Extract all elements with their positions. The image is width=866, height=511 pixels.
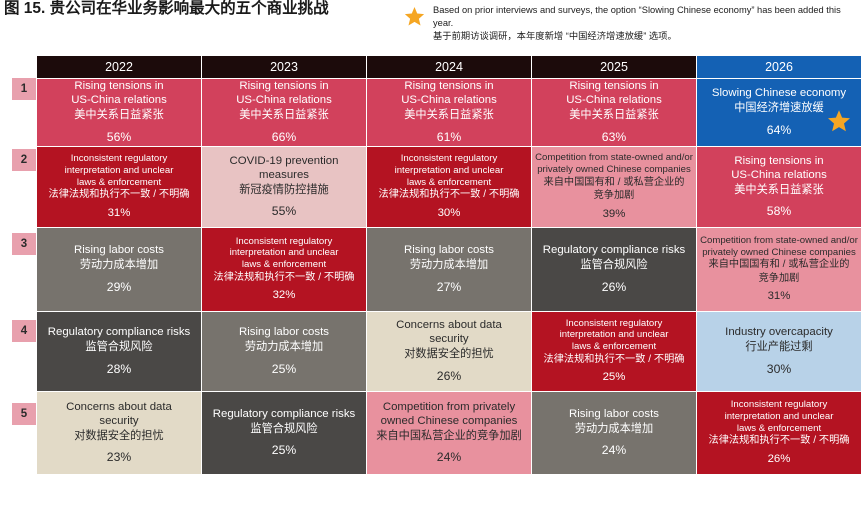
percentage-value: 25%: [202, 443, 366, 458]
challenge-label-en: COVID-19 prevention: [202, 155, 366, 169]
challenge-label-zh: 监管合规风险: [37, 341, 201, 355]
table-row: Rising tensions inUS-China relations美中关系…: [37, 79, 862, 147]
challenge-label-en: Rising tensions in: [37, 80, 201, 94]
matrix-cell[interactable]: Rising tensions inUS-China relations美中关系…: [202, 79, 367, 147]
challenge-label-zh: 竞争加剧: [532, 190, 696, 202]
percentage-value: 66%: [202, 130, 366, 145]
challenge-label-en: Concerns about data: [367, 319, 531, 333]
challenge-label-en: measures: [202, 169, 366, 183]
percentage-value: 26%: [697, 453, 861, 467]
challenge-label-en: interpretation and unclear: [697, 411, 861, 423]
percentage-value: 61%: [367, 130, 531, 145]
year-header-2024: 2024: [367, 56, 532, 79]
challenge-label-en: privately owned Chinese companies: [532, 164, 696, 176]
percentage-value: 26%: [532, 280, 696, 295]
table-row: Rising labor costs劳动力成本增加29%Inconsistent…: [37, 228, 862, 312]
challenge-label-en: privately owned Chinese companies: [697, 247, 861, 259]
challenge-label-en: interpretation and unclear: [532, 329, 696, 341]
challenge-label-en: Inconsistent regulatory: [532, 318, 696, 330]
challenge-label-en: US-China relations: [367, 94, 531, 108]
challenge-label-zh: 法律法规和执行不一致 / 不明确: [202, 272, 366, 284]
challenge-label-en: Industry overcapacity: [697, 326, 861, 340]
challenge-label-zh: 美中关系日益紧张: [367, 109, 531, 123]
matrix-cell[interactable]: Competition from state-owned and/orpriva…: [697, 228, 862, 312]
matrix-cell[interactable]: Rising labor costs劳动力成本增加25%: [202, 312, 367, 392]
matrix-cell[interactable]: Inconsistent regulatoryinterpretation an…: [532, 312, 697, 392]
challenge-label-en: Slowing Chinese economy: [697, 87, 861, 101]
matrix-cell[interactable]: Rising tensions inUS-China relations美中关系…: [367, 79, 532, 147]
challenge-label-en: Rising labor costs: [532, 408, 696, 422]
percentage-value: 55%: [202, 204, 366, 219]
challenge-label-en: Rising tensions in: [697, 155, 861, 169]
annotation-line-zh: 基于前期访谈调研，本年度新增 “中国经济增速放缓” 选项。: [433, 30, 862, 43]
challenge-label-en: security: [367, 333, 531, 347]
challenge-label-en: interpretation and unclear: [37, 165, 201, 177]
year-header-2023: 2023: [202, 56, 367, 79]
star-icon: [827, 109, 851, 139]
challenge-label-zh: 竞争加剧: [697, 273, 861, 285]
challenge-label-en: Competition from privately: [367, 401, 531, 415]
matrix-cell[interactable]: Competition from state-owned and/orpriva…: [532, 147, 697, 228]
challenge-label-en: Inconsistent regulatory: [202, 236, 366, 248]
challenge-label-zh: 来自中国私营企业的竞争加剧: [367, 430, 531, 444]
year-header-2022: 2022: [37, 56, 202, 79]
percentage-value: 58%: [697, 204, 861, 219]
year-header-2025: 2025: [532, 56, 697, 79]
matrix-cell[interactable]: Regulatory compliance risks监管合规风险28%: [37, 312, 202, 392]
year-header-row: 20222023202420252026: [37, 56, 862, 79]
challenge-label-zh: 美中关系日益紧张: [532, 109, 696, 123]
challenge-label-en: US-China relations: [532, 94, 696, 108]
matrix-cell[interactable]: Rising labor costs劳动力成本增加24%: [532, 392, 697, 475]
rank-badge-3: 3: [12, 233, 36, 255]
challenge-label-zh: 来自中国国有和 / 或私营企业的: [532, 177, 696, 189]
challenge-label-en: Regulatory compliance risks: [202, 408, 366, 422]
percentage-value: 29%: [37, 280, 201, 295]
challenge-label-en: Rising labor costs: [202, 326, 366, 340]
rank-badge-5: 5: [12, 403, 36, 425]
percentage-value: 39%: [532, 208, 696, 222]
annotation-note: Based on prior interviews and surveys, t…: [404, 4, 862, 44]
challenge-label-en: Inconsistent regulatory: [697, 399, 861, 411]
matrix-cell[interactable]: Rising tensions inUS-China relations美中关系…: [37, 79, 202, 147]
challenge-label-en: Competition from state-owned and/or: [697, 235, 861, 247]
challenge-label-zh: 美中关系日益紧张: [697, 184, 861, 198]
rank-badge-4: 4: [12, 320, 36, 342]
matrix-cell[interactable]: Concerns about datasecurity对数据安全的担忧26%: [367, 312, 532, 392]
percentage-value: 30%: [367, 207, 531, 221]
challenge-label-en: Regulatory compliance risks: [37, 326, 201, 340]
percentage-value: 30%: [697, 362, 861, 377]
challenge-label-zh: 劳动力成本增加: [532, 423, 696, 437]
challenge-label-en: laws & enforcement: [697, 423, 861, 435]
matrix-cell[interactable]: Rising labor costs劳动力成本增加27%: [367, 228, 532, 312]
challenge-label-en: security: [37, 415, 201, 429]
challenge-label-en: laws & enforcement: [367, 177, 531, 189]
challenge-label-zh: 劳动力成本增加: [367, 259, 531, 273]
percentage-value: 25%: [532, 371, 696, 385]
table-row: Concerns about datasecurity对数据安全的担忧23%Re…: [37, 392, 862, 475]
percentage-value: 27%: [367, 280, 531, 295]
challenges-matrix: 20222023202420252026 Rising tensions inU…: [36, 55, 862, 475]
matrix-cell[interactable]: Rising tensions inUS-China relations美中关系…: [697, 147, 862, 228]
percentage-value: 31%: [37, 207, 201, 221]
rank-badge-2: 2: [12, 149, 36, 171]
percentage-value: 24%: [532, 443, 696, 458]
challenge-label-en: Rising tensions in: [367, 80, 531, 94]
challenge-label-zh: 法律法规和执行不一致 / 不明确: [37, 189, 201, 201]
challenge-label-en: interpretation and unclear: [367, 165, 531, 177]
challenge-label-en: US-China relations: [697, 169, 861, 183]
percentage-value: 23%: [37, 450, 201, 465]
challenge-label-en: laws & enforcement: [202, 259, 366, 271]
challenge-label-zh: 法律法规和执行不一致 / 不明确: [367, 189, 531, 201]
matrix-body: Rising tensions inUS-China relations美中关系…: [37, 79, 862, 475]
challenge-label-zh: 来自中国国有和 / 或私营企业的: [697, 259, 861, 271]
matrix-cell[interactable]: Rising labor costs劳动力成本增加29%: [37, 228, 202, 312]
challenge-label-zh: 法律法规和执行不一致 / 不明确: [532, 354, 696, 366]
challenge-label-en: Rising tensions in: [202, 80, 366, 94]
challenge-label-zh: 监管合规风险: [202, 423, 366, 437]
challenge-label-en: US-China relations: [202, 94, 366, 108]
matrix-cell[interactable]: Inconsistent regulatoryinterpretation an…: [367, 147, 532, 228]
matrix-cell[interactable]: Rising tensions inUS-China relations美中关系…: [532, 79, 697, 147]
challenge-label-en: Rising labor costs: [367, 244, 531, 258]
challenge-label-en: laws & enforcement: [37, 177, 201, 189]
annotation-text: Based on prior interviews and surveys, t…: [433, 4, 862, 44]
challenge-label-en: laws & enforcement: [532, 341, 696, 353]
challenge-label-en: Concerns about data: [37, 401, 201, 415]
percentage-value: 56%: [37, 130, 201, 145]
challenge-label-en: US-China relations: [37, 94, 201, 108]
matrix-cell[interactable]: Inconsistent regulatoryinterpretation an…: [37, 147, 202, 228]
matrix-cell[interactable]: Competition from privatelyowned Chinese …: [367, 392, 532, 475]
annotation-line1: Based on prior interviews and surveys, t…: [433, 5, 674, 15]
challenge-label-en: Rising labor costs: [37, 244, 201, 258]
percentage-value: 25%: [202, 362, 366, 377]
challenge-label-zh: 行业产能过剩: [697, 341, 861, 355]
percentage-value: 32%: [202, 289, 366, 303]
challenge-label-zh: 对数据安全的担忧: [367, 348, 531, 362]
table-row: Inconsistent regulatoryinterpretation an…: [37, 147, 862, 228]
matrix-cell[interactable]: Inconsistent regulatoryinterpretation an…: [202, 228, 367, 312]
matrix-cell[interactable]: Concerns about datasecurity对数据安全的担忧23%: [37, 392, 202, 475]
star-icon: [404, 6, 425, 32]
percentage-value: 63%: [532, 130, 696, 145]
challenge-label-en: interpretation and unclear: [202, 247, 366, 259]
year-header-2026: 2026: [697, 56, 862, 79]
matrix-cell[interactable]: Slowing Chinese economy中国经济增速放缓64%: [697, 79, 862, 147]
table-row: Regulatory compliance risks监管合规风险28%Risi…: [37, 312, 862, 392]
challenge-label-zh: 劳动力成本增加: [37, 259, 201, 273]
challenge-label-zh: 美中关系日益紧张: [37, 109, 201, 123]
challenge-label-en: Regulatory compliance risks: [532, 244, 696, 258]
challenge-label-en: Inconsistent regulatory: [367, 153, 531, 165]
challenge-label-en: Competition from state-owned and/or: [532, 152, 696, 164]
challenge-label-zh: 法律法规和执行不一致 / 不明确: [697, 435, 861, 447]
percentage-value: 31%: [697, 290, 861, 304]
percentage-value: 26%: [367, 369, 531, 384]
challenge-label-zh: 劳动力成本增加: [202, 341, 366, 355]
challenge-label-zh: 美中关系日益紧张: [202, 109, 366, 123]
challenge-label-zh: 新冠疫情防控措施: [202, 184, 366, 198]
matrix-cell[interactable]: Regulatory compliance risks监管合规风险25%: [202, 392, 367, 475]
matrix-cell[interactable]: Regulatory compliance risks监管合规风险26%: [532, 228, 697, 312]
percentage-value: 24%: [367, 450, 531, 465]
challenge-label-en: Rising tensions in: [532, 80, 696, 94]
challenge-label-en: owned Chinese companies: [367, 415, 531, 429]
rank-badge-1: 1: [12, 78, 36, 100]
percentage-value: 28%: [37, 362, 201, 377]
challenge-label-zh: 监管合规风险: [532, 259, 696, 273]
matrix-cell[interactable]: COVID-19 preventionmeasures新冠疫情防控措施55%: [202, 147, 367, 228]
challenge-label-zh: 对数据安全的担忧: [37, 430, 201, 444]
page-title: 图 15. 贵公司在华业务影响最大的五个商业挑战: [4, 0, 329, 18]
challenge-label-en: Inconsistent regulatory: [37, 153, 201, 165]
matrix-cell[interactable]: Industry overcapacity行业产能过剩30%: [697, 312, 862, 392]
matrix-cell[interactable]: Inconsistent regulatoryinterpretation an…: [697, 392, 862, 475]
